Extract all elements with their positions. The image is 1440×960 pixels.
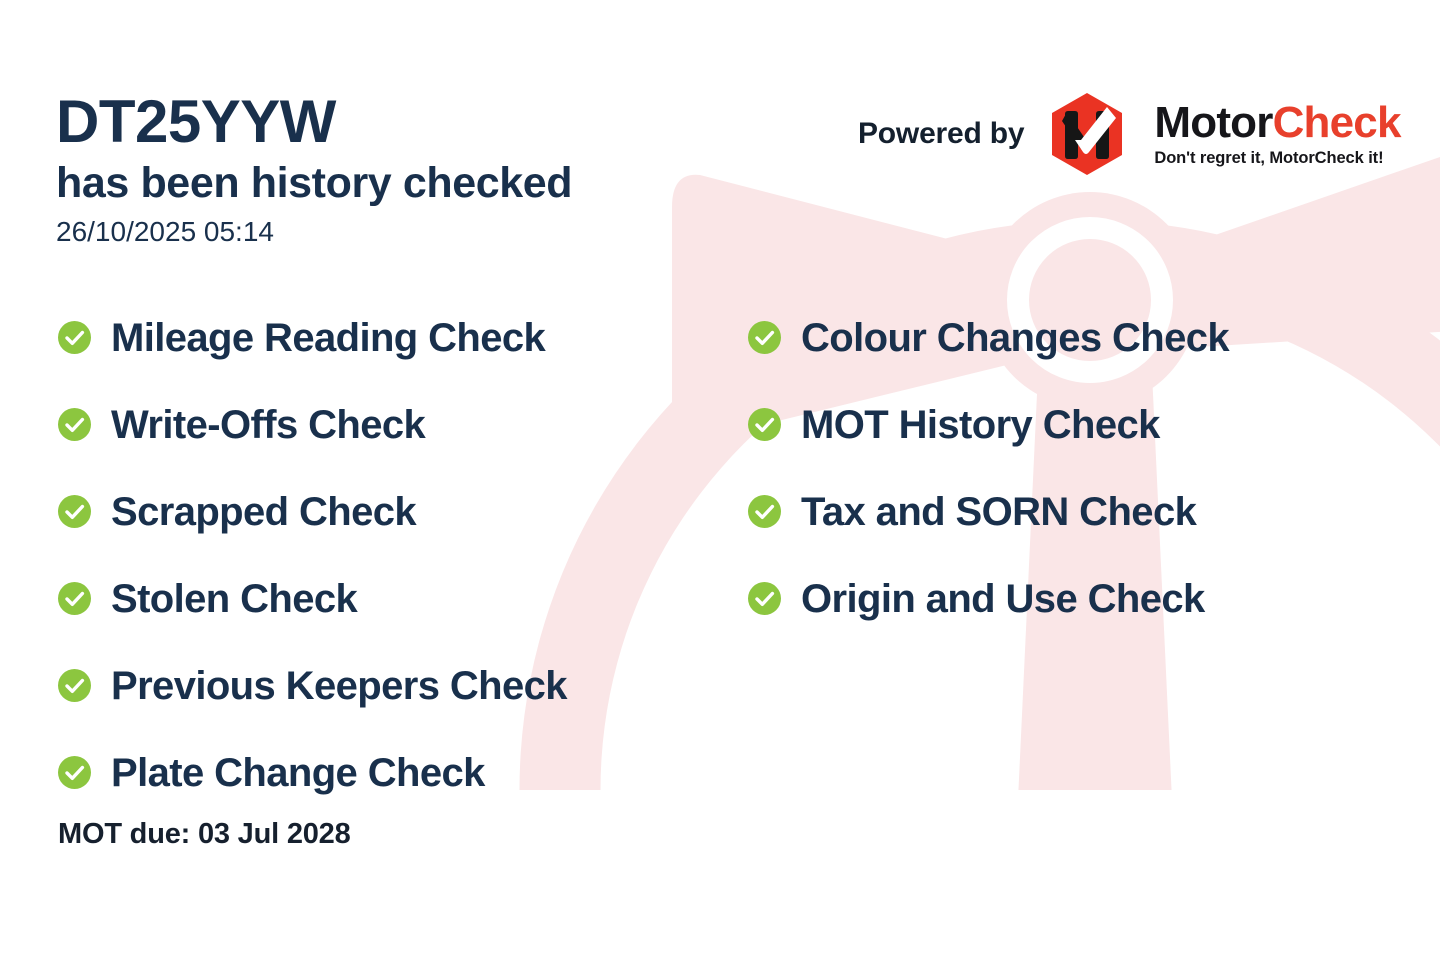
brand-name-motor: Motor [1154,98,1272,147]
motorcheck-wordmark: MotorCheck Don't regret it, MotorCheck i… [1154,101,1400,167]
check-item: Mileage Reading Check [58,294,718,381]
brand-name-check: Check [1273,98,1401,147]
check-circle-icon [748,582,781,615]
history-check-summary-card: DT25YYW has been history checked 26/10/2… [0,0,1440,960]
check-item: Tax and SORN Check [748,468,1408,555]
check-label: Stolen Check [111,579,357,619]
brand-name: MotorCheck [1154,101,1400,145]
check-label: Scrapped Check [111,492,416,532]
check-circle-icon [58,756,91,789]
check-item: Plate Change Check [58,729,718,816]
page-title: has been history checked [56,160,736,207]
check-item: Write-Offs Check [58,381,718,468]
check-item: Origin and Use Check [748,555,1408,642]
checks-right-column: Colour Changes Check MOT History Check T… [748,294,1408,642]
powered-by-label: Powered by [858,117,1024,151]
check-label: Plate Change Check [111,753,485,793]
motorcheck-hexagon-m-icon [1048,92,1126,176]
check-label: MOT History Check [801,405,1160,445]
check-circle-icon [748,321,781,354]
check-item: Previous Keepers Check [58,642,718,729]
check-item: MOT History Check [748,381,1408,468]
check-item: Colour Changes Check [748,294,1408,381]
checks-left-column: Mileage Reading Check Write-Offs Check S… [58,294,718,816]
check-circle-icon [58,582,91,615]
check-circle-icon [748,495,781,528]
check-circle-icon [748,408,781,441]
check-item: Stolen Check [58,555,718,642]
check-circle-icon [58,321,91,354]
check-label: Origin and Use Check [801,579,1205,619]
check-label: Mileage Reading Check [111,318,545,358]
check-item: Scrapped Check [58,468,718,555]
check-circle-icon [58,495,91,528]
check-label: Tax and SORN Check [801,492,1196,532]
check-circle-icon [58,669,91,702]
check-timestamp: 26/10/2025 05:14 [56,215,736,249]
mot-due-label: MOT due: 03 Jul 2028 [58,818,351,851]
vehicle-registration: DT25YYW [56,92,736,152]
header-block: DT25YYW has been history checked 26/10/2… [56,92,736,249]
brand-lockup: Powered by MotorCheck Don't regret it, M… [858,92,1401,176]
brand-tagline: Don't regret it, MotorCheck it! [1154,149,1400,167]
check-label: Colour Changes Check [801,318,1229,358]
check-circle-icon [58,408,91,441]
check-label: Previous Keepers Check [111,666,567,706]
check-label: Write-Offs Check [111,405,425,445]
